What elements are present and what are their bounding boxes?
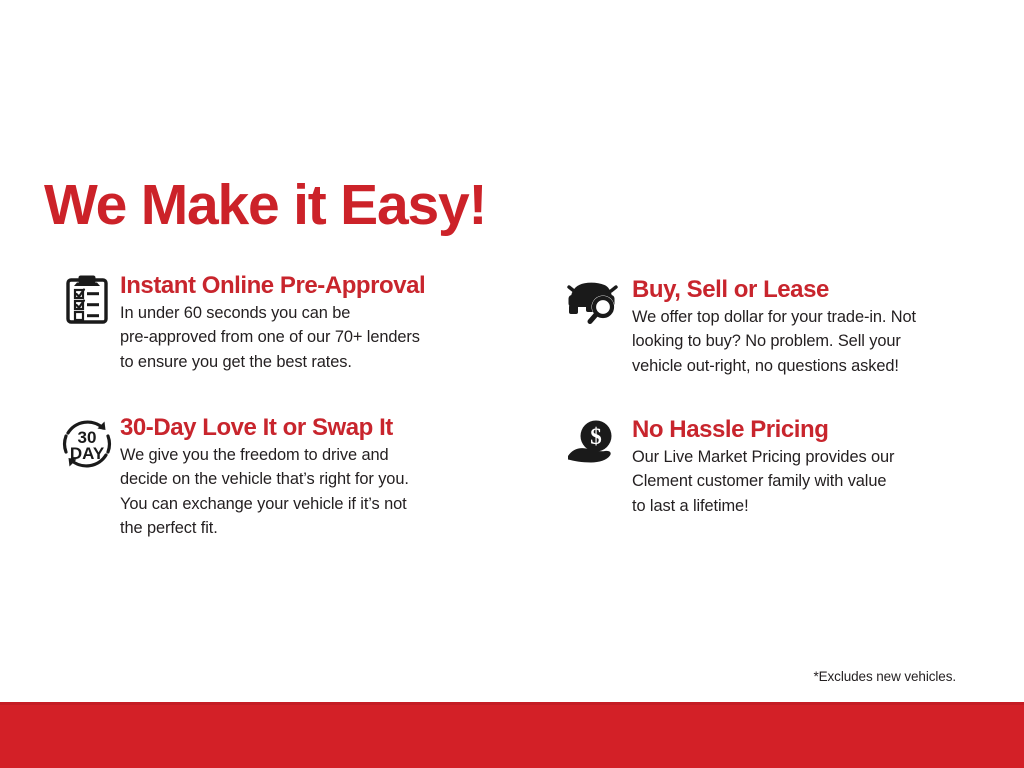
feature-item-buy-sell-lease: Buy, Sell or Lease We offer top dollar f…	[554, 276, 994, 378]
feature-title: 30-Day Love It or Swap It	[120, 414, 409, 442]
feature-description: We offer top dollar for your trade-in. N…	[632, 305, 916, 378]
thirty-day-cycle-icon: 30 DAY	[56, 414, 118, 474]
disclaimer-footnote: *Excludes new vehicles.	[813, 668, 956, 686]
dollar-symbol-label: $	[590, 424, 602, 449]
footer-red-bar	[0, 702, 1024, 768]
feature-item-30-day-swap: 30 DAY 30-Day Love It or Swap It We give…	[56, 414, 516, 540]
feature-body: Instant Online Pre-Approval In under 60 …	[118, 272, 425, 374]
feature-description: In under 60 seconds you can be pre-appro…	[120, 301, 425, 374]
feature-item-pre-approval: Instant Online Pre-Approval In under 60 …	[56, 272, 516, 374]
clipboard-checklist-icon	[56, 272, 118, 332]
thirty-day-unit-label: DAY	[70, 444, 105, 463]
feature-body: No Hassle Pricing Our Live Market Pricin…	[632, 416, 894, 518]
feature-description: Our Live Market Pricing provides our Cle…	[632, 445, 894, 518]
feature-description: We give you the freedom to drive and dec…	[120, 443, 409, 540]
feature-body: Buy, Sell or Lease We offer top dollar f…	[632, 276, 916, 378]
page-title: We Make it Easy!	[44, 174, 486, 236]
hand-holding-dollar-coin-icon: $	[554, 416, 632, 476]
feature-item-no-hassle-pricing: $ No Hassle Pricing Our Live Market Pric…	[554, 416, 994, 518]
feature-body: 30-Day Love It or Swap It We give you th…	[118, 414, 409, 540]
slide-canvas: We Make it Easy!	[0, 0, 1024, 768]
car-magnifier-icon	[554, 276, 632, 336]
footer-bar-top-edge	[0, 702, 1024, 705]
feature-title: Buy, Sell or Lease	[632, 276, 916, 304]
feature-title: Instant Online Pre-Approval	[120, 272, 425, 300]
feature-title: No Hassle Pricing	[632, 416, 894, 444]
